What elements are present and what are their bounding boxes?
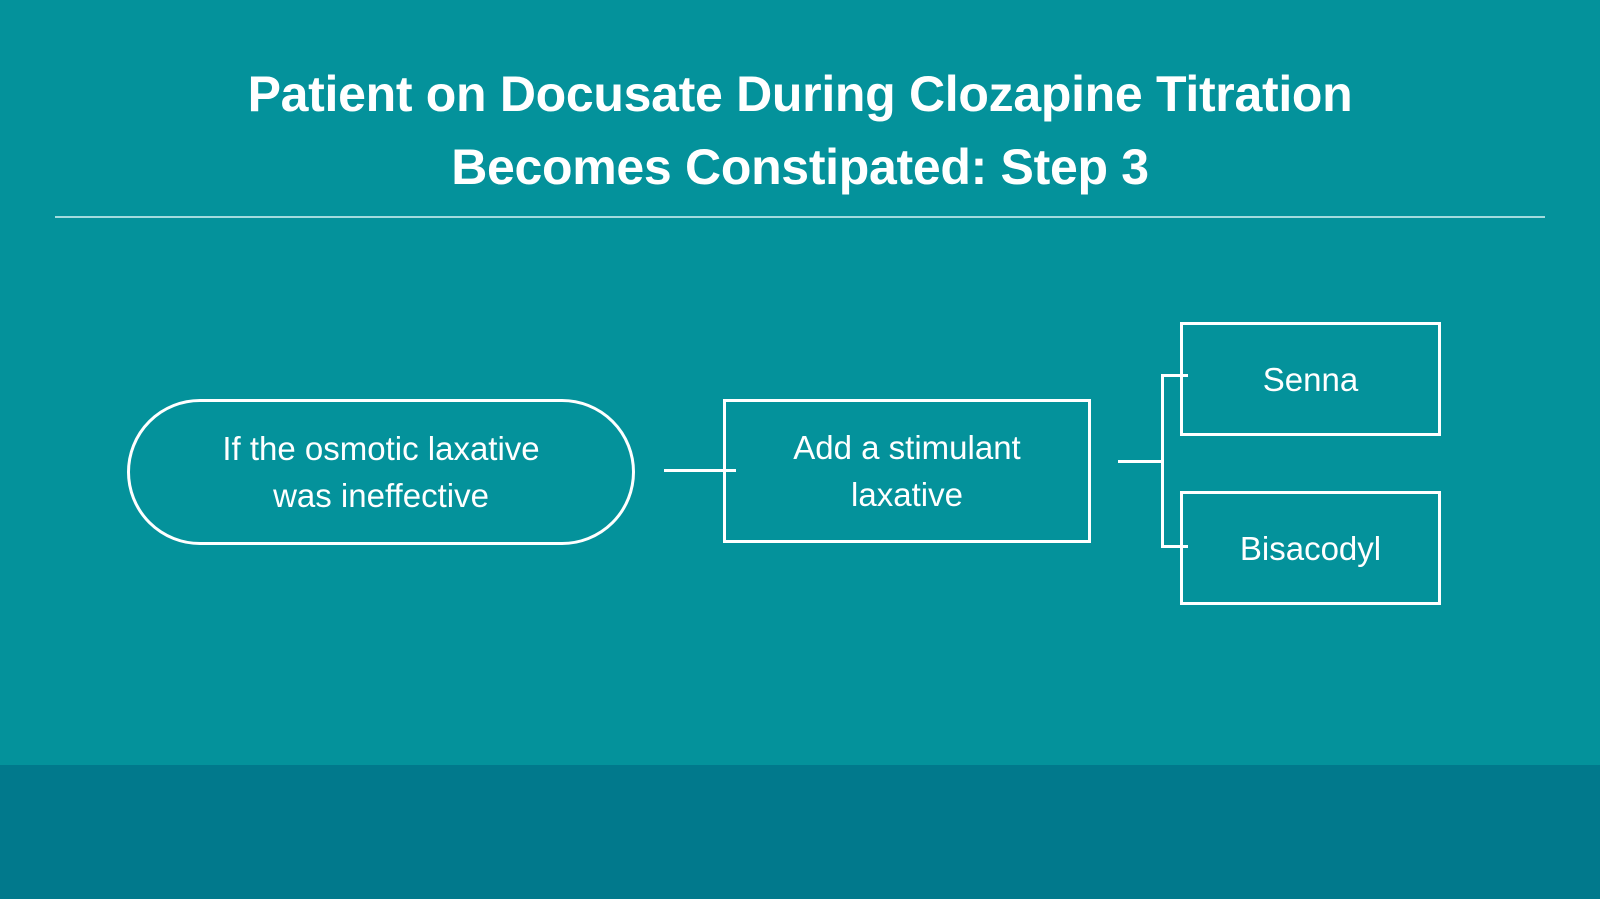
flowchart-node-option-bisacodyl-label: Bisacodyl [1240, 525, 1381, 572]
footer-bar: Meyer, J. M., & Stahl, S. M. (2019). The… [0, 765, 1600, 899]
flowchart: If the osmotic laxativewas ineffective A… [0, 0, 1600, 765]
bracket-inbound-stub [1118, 460, 1163, 463]
flowchart-node-action-label: Add a stimulantlaxative [793, 424, 1020, 518]
flowchart-node-option-senna[interactable]: Senna [1180, 322, 1441, 436]
flowchart-node-action[interactable]: Add a stimulantlaxative [723, 399, 1091, 543]
flowchart-node-condition[interactable]: If the osmotic laxativewas ineffective [127, 399, 635, 545]
flowchart-node-option-senna-label: Senna [1263, 356, 1358, 403]
flowchart-node-condition-label: If the osmotic laxativewas ineffective [222, 425, 539, 519]
slide-canvas: Patient on Docusate During Clozapine Tit… [0, 0, 1600, 899]
flowchart-node-option-bisacodyl[interactable]: Bisacodyl [1180, 491, 1441, 605]
bracket-spine [1161, 374, 1164, 548]
